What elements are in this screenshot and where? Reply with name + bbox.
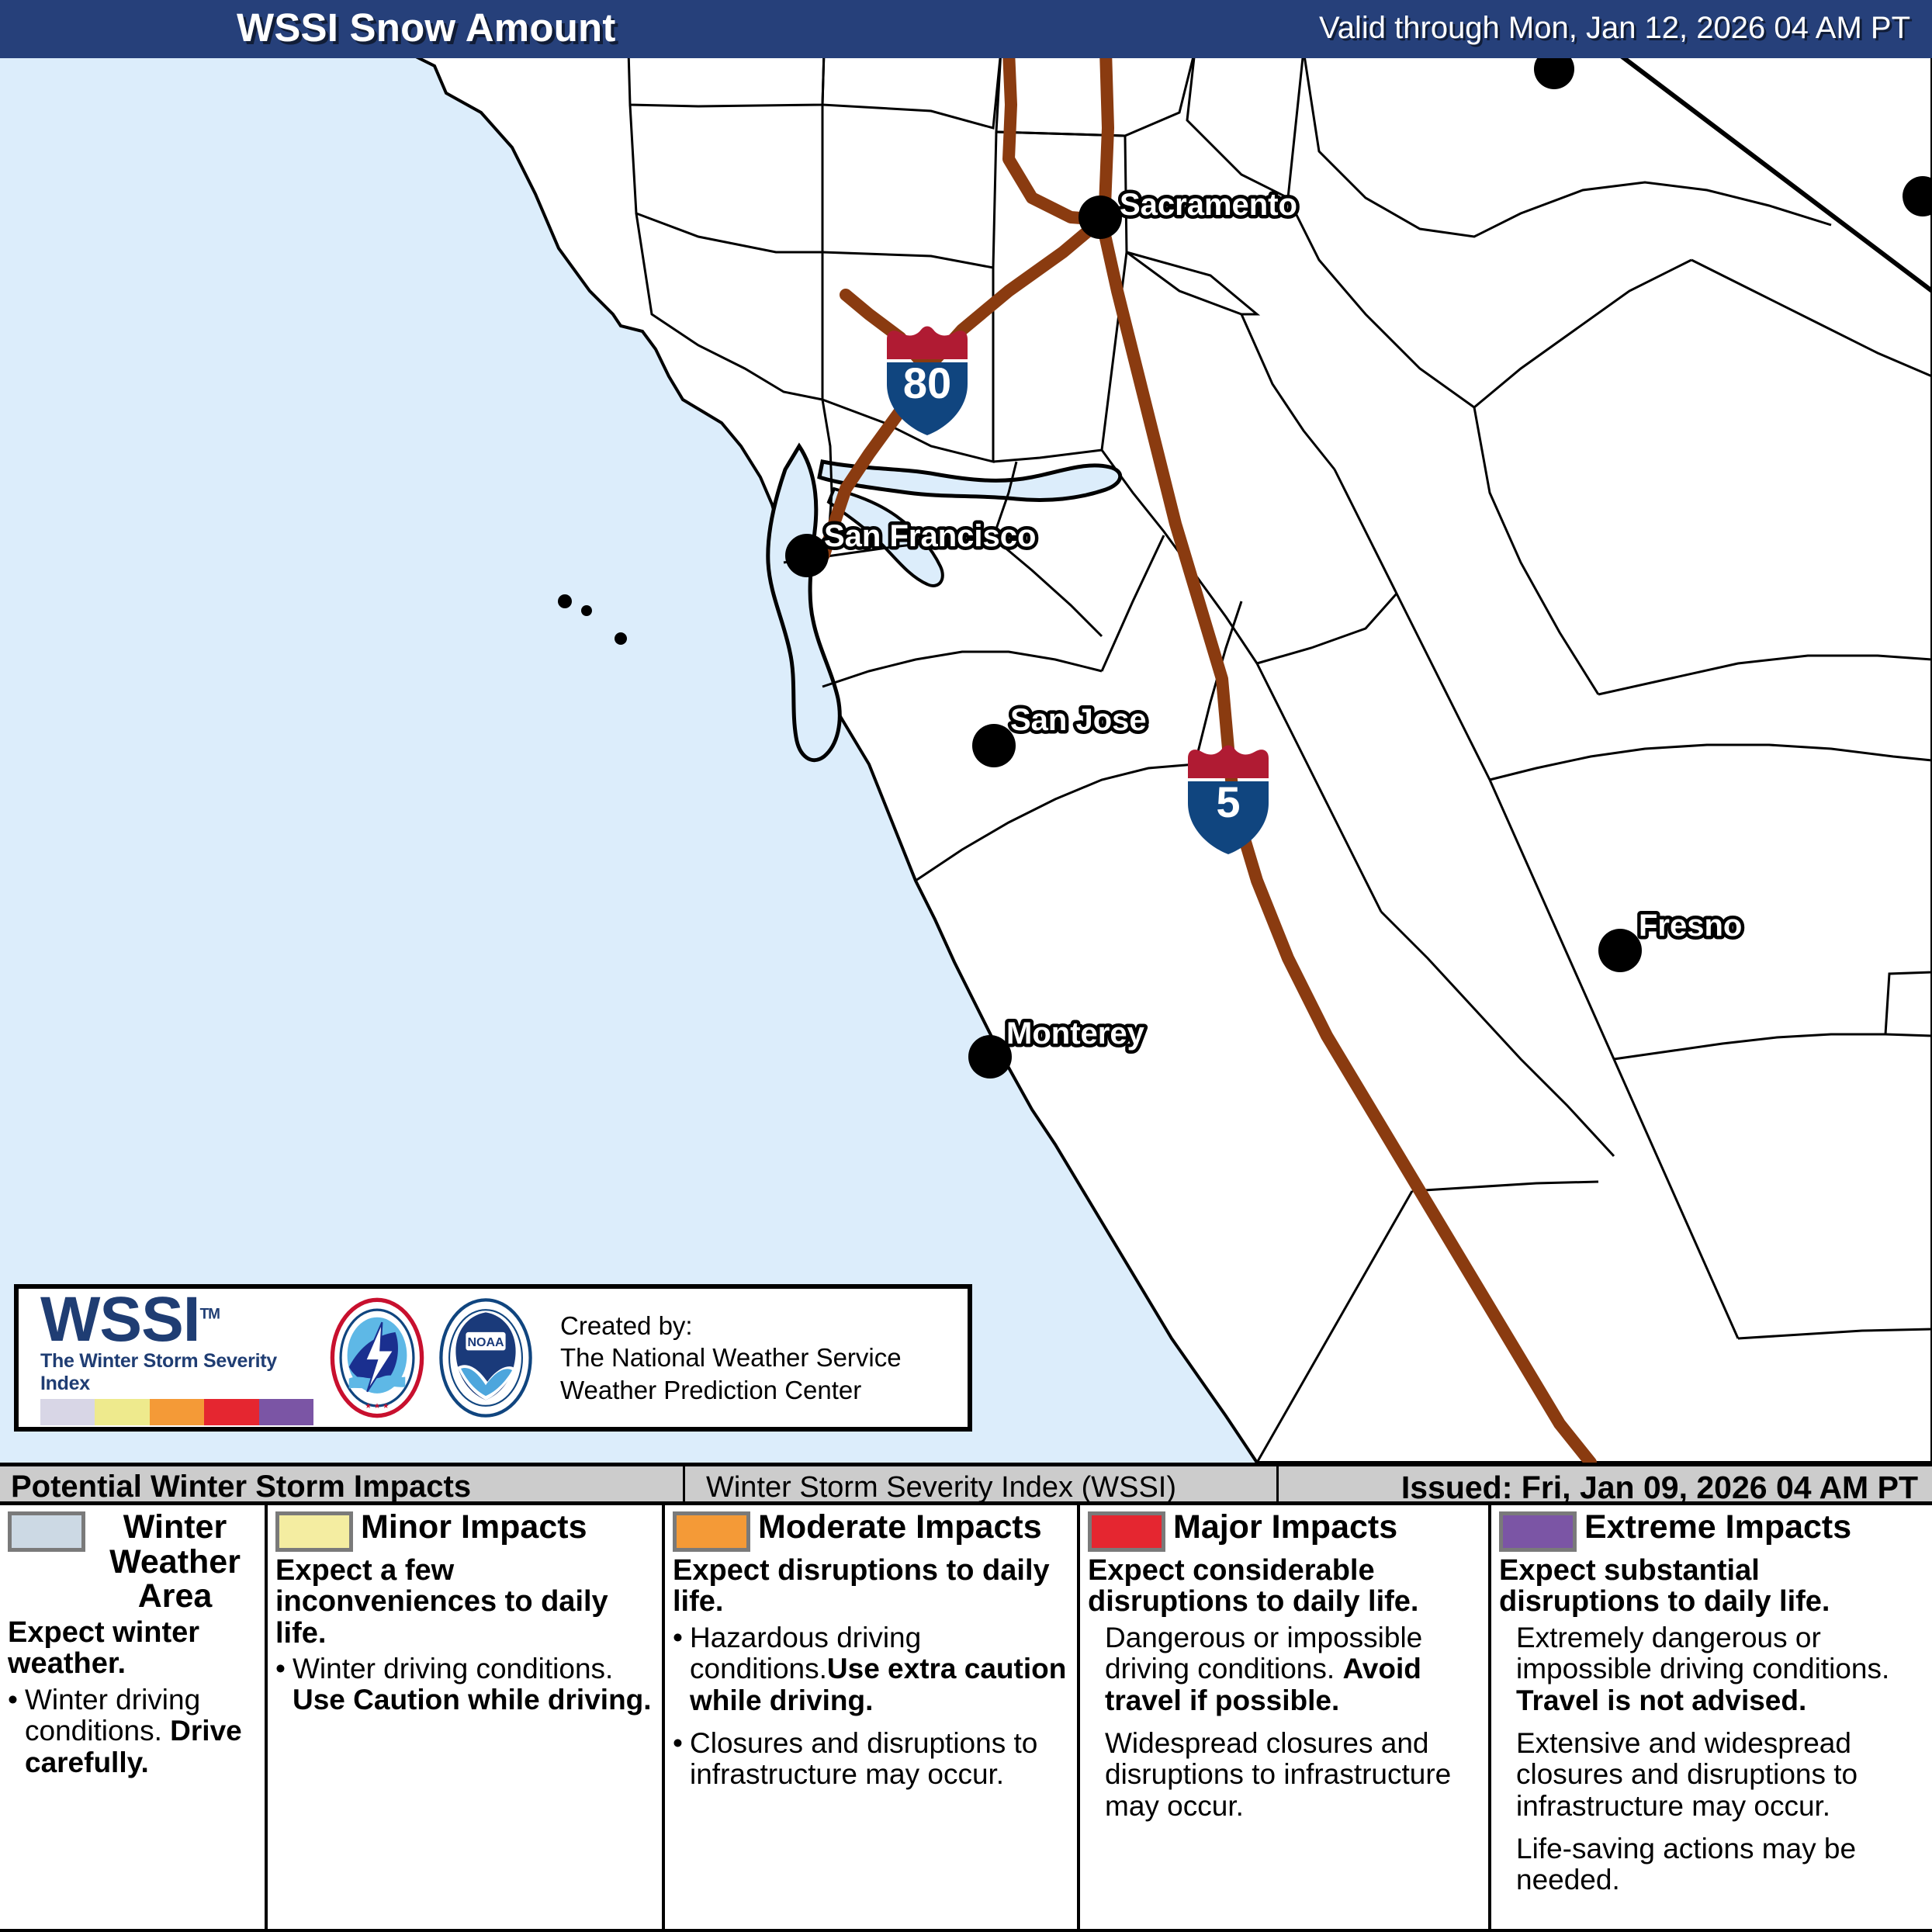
legend-intro: Expect considerable disruptions to daily… (1088, 1555, 1480, 1618)
bullet-dot-icon (1088, 1622, 1105, 1717)
legend-bullet-text: Hazardous driving conditions.Use extra c… (690, 1622, 1069, 1717)
legend-column-header: Minor Impacts (275, 1510, 654, 1552)
color-bar-swatch-extreme (259, 1399, 313, 1425)
trademark-symbol: TM (200, 1306, 220, 1322)
legend-swatch (1499, 1511, 1577, 1552)
legend-intro: Expect winter weather. (8, 1617, 257, 1680)
city-label-san-francisco: San Francisco (824, 519, 1036, 553)
weather-map[interactable]: Sacramento San Francisco San Jose Fresno… (0, 58, 1932, 1463)
legend-intro: Expect a few inconveniences to daily lif… (275, 1555, 654, 1649)
legend-bullet-item: Extensive and widespread closures and di… (1499, 1728, 1924, 1823)
legend-swatch (275, 1511, 353, 1552)
svg-text:NOAA: NOAA (467, 1336, 504, 1349)
wssi-snow-amount-page: WSSI Snow Amount Valid through Mon, Jan … (0, 0, 1932, 1932)
legend-bullet-list: •Winter driving conditions. Use Caution … (275, 1653, 654, 1716)
wssi-acronym: WSSITM (40, 1290, 220, 1349)
island-dot (558, 594, 572, 608)
island-dot (581, 605, 592, 616)
city-dot-fresno (1598, 929, 1642, 972)
legend-title: Minor Impacts (361, 1510, 654, 1545)
valid-through-label: Valid through Mon, Jan 12, 2026 04 AM PT (1319, 11, 1910, 46)
bullet-dot-icon (1499, 1622, 1516, 1717)
wssi-logo: WSSITM The Winter Storm Severity Index (19, 1290, 321, 1425)
legend-bullet-item: Widespread closures and disruptions to i… (1088, 1728, 1480, 1823)
legend-bullet-item: •Hazardous driving conditions.Use extra … (673, 1622, 1069, 1717)
city-dot-sacramento (1079, 196, 1122, 239)
noaa-seal: NOAA (435, 1296, 537, 1420)
legend-bullet-item: •Winter driving conditions. Use Caution … (275, 1653, 654, 1716)
legend-column-header: Extreme Impacts (1499, 1510, 1924, 1552)
legend-bullet-text: Dangerous or impossible driving conditio… (1105, 1622, 1480, 1717)
status-bar-divider-left (683, 1466, 685, 1501)
wssi-color-bar (40, 1399, 313, 1425)
credit-line-2: The National Weather Service (560, 1342, 902, 1374)
status-bar-subtitle: Winter Storm Severity Index (WSSI) (706, 1471, 1176, 1504)
legend-bullet-list: •Winter driving conditions. Drive carefu… (8, 1684, 257, 1779)
shield-number-80: 80 (903, 358, 951, 407)
legend-bullet-item: Life-saving actions may be needed. (1499, 1833, 1924, 1896)
legend-bullet-list: Extremely dangerous or impossible drivin… (1499, 1622, 1924, 1897)
legend-swatch (673, 1511, 750, 1552)
creator-credit: Created by: The National Weather Service… (537, 1310, 902, 1407)
legend-column-moderate-impacts: Moderate ImpactsExpect disruptions to da… (665, 1505, 1080, 1932)
city-label-sacramento: Sacramento (1120, 188, 1297, 222)
wssi-acronym-text: WSSI (40, 1284, 200, 1355)
legend-title: Major Impacts (1173, 1510, 1480, 1545)
legend-title: Winter Weather Area (93, 1510, 257, 1614)
bullet-dot-icon: • (8, 1684, 25, 1779)
legend-intro: Expect disruptions to daily life. (673, 1555, 1069, 1618)
color-bar-swatch-winter-weather (40, 1399, 95, 1425)
wssi-tagline: The Winter Storm Severity Index (40, 1350, 321, 1395)
legend-column-header: Major Impacts (1088, 1510, 1480, 1552)
agency-seals: ★ ★ ★ NOAA (321, 1296, 537, 1420)
city-dot-monterey (968, 1035, 1012, 1079)
legend-column-minor-impacts: Minor ImpactsExpect a few inconveniences… (268, 1505, 665, 1932)
national-weather-service-seal: ★ ★ ★ (326, 1296, 428, 1420)
city-label-fresno: Fresno (1639, 909, 1742, 943)
legend-column-winter-weather-area: Winter Weather AreaExpect winter weather… (0, 1505, 268, 1932)
status-bar-issued: Issued: Fri, Jan 09, 2026 04 AM PT (1401, 1470, 1918, 1506)
legend-swatch (8, 1511, 85, 1552)
bullet-dot-icon: • (673, 1728, 690, 1791)
legend-bullet-text: Winter driving conditions. Drive careful… (25, 1684, 257, 1779)
bullet-dot-icon: • (275, 1653, 293, 1716)
legend-bullet-text: Life-saving actions may be needed. (1516, 1833, 1924, 1896)
svg-text:★ ★ ★: ★ ★ ★ (365, 1402, 390, 1411)
legend-column-header: Moderate Impacts (673, 1510, 1069, 1552)
wssi-logo-panel: WSSITM The Winter Storm Severity Index ★ (14, 1284, 972, 1432)
legend-bullet-item: •Closures and disruptions to infrastruct… (673, 1728, 1069, 1791)
city-dot-san-jose (972, 724, 1016, 767)
legend-bullet-text: Extensive and widespread closures and di… (1516, 1728, 1924, 1823)
city-label-san-jose: San Jose (1010, 703, 1147, 737)
color-bar-swatch-minor (95, 1399, 149, 1425)
legend-column-header: Winter Weather Area (8, 1510, 257, 1614)
page-header: WSSI Snow Amount Valid through Mon, Jan … (0, 0, 1932, 58)
color-bar-swatch-major (204, 1399, 258, 1425)
city-dot-san-francisco (785, 534, 829, 577)
bullet-dot-icon (1088, 1728, 1105, 1823)
bullet-dot-icon (1499, 1833, 1516, 1896)
credit-line-3: Weather Prediction Center (560, 1374, 902, 1407)
color-bar-swatch-moderate (150, 1399, 204, 1425)
legend-bullet-text: Widespread closures and disruptions to i… (1105, 1728, 1480, 1823)
status-bar-divider-right (1276, 1466, 1279, 1501)
legend-column-major-impacts: Major ImpactsExpect considerable disrupt… (1080, 1505, 1491, 1932)
status-bar-title: Potential Winter Storm Impacts (11, 1470, 471, 1504)
legend-bullet-item: Dangerous or impossible driving conditio… (1088, 1622, 1480, 1717)
credit-line-1: Created by: (560, 1310, 902, 1342)
shield-number-5: 5 (1216, 777, 1240, 826)
legend-column-extreme-impacts: Extreme ImpactsExpect substantial disrup… (1491, 1505, 1932, 1932)
impacts-legend: Winter Weather AreaExpect winter weather… (0, 1505, 1932, 1932)
legend-bullet-item: •Winter driving conditions. Drive carefu… (8, 1684, 257, 1779)
island-dot (615, 632, 627, 645)
legend-bullet-item: Extremely dangerous or impossible drivin… (1499, 1622, 1924, 1717)
bottom-rule (0, 1929, 1932, 1932)
legend-bullet-list: Dangerous or impossible driving conditio… (1088, 1622, 1480, 1823)
legend-bullet-list: •Hazardous driving conditions.Use extra … (673, 1622, 1069, 1791)
legend-bullet-text: Winter driving conditions. Use Caution w… (293, 1653, 654, 1716)
legend-bullet-text: Closures and disruptions to infrastructu… (690, 1728, 1069, 1791)
city-label-monterey: Monterey (1006, 1016, 1145, 1051)
legend-bullet-text: Extremely dangerous or impossible drivin… (1516, 1622, 1924, 1717)
page-title: WSSI Snow Amount (237, 5, 616, 50)
legend-title: Moderate Impacts (758, 1510, 1069, 1545)
legend-title: Extreme Impacts (1584, 1510, 1924, 1545)
legend-intro: Expect substantial disruptions to daily … (1499, 1555, 1924, 1618)
bullet-dot-icon: • (673, 1622, 690, 1717)
impacts-status-bar: Potential Winter Storm Impacts Winter St… (0, 1463, 1932, 1505)
bullet-dot-icon (1499, 1728, 1516, 1823)
legend-swatch (1088, 1511, 1165, 1552)
